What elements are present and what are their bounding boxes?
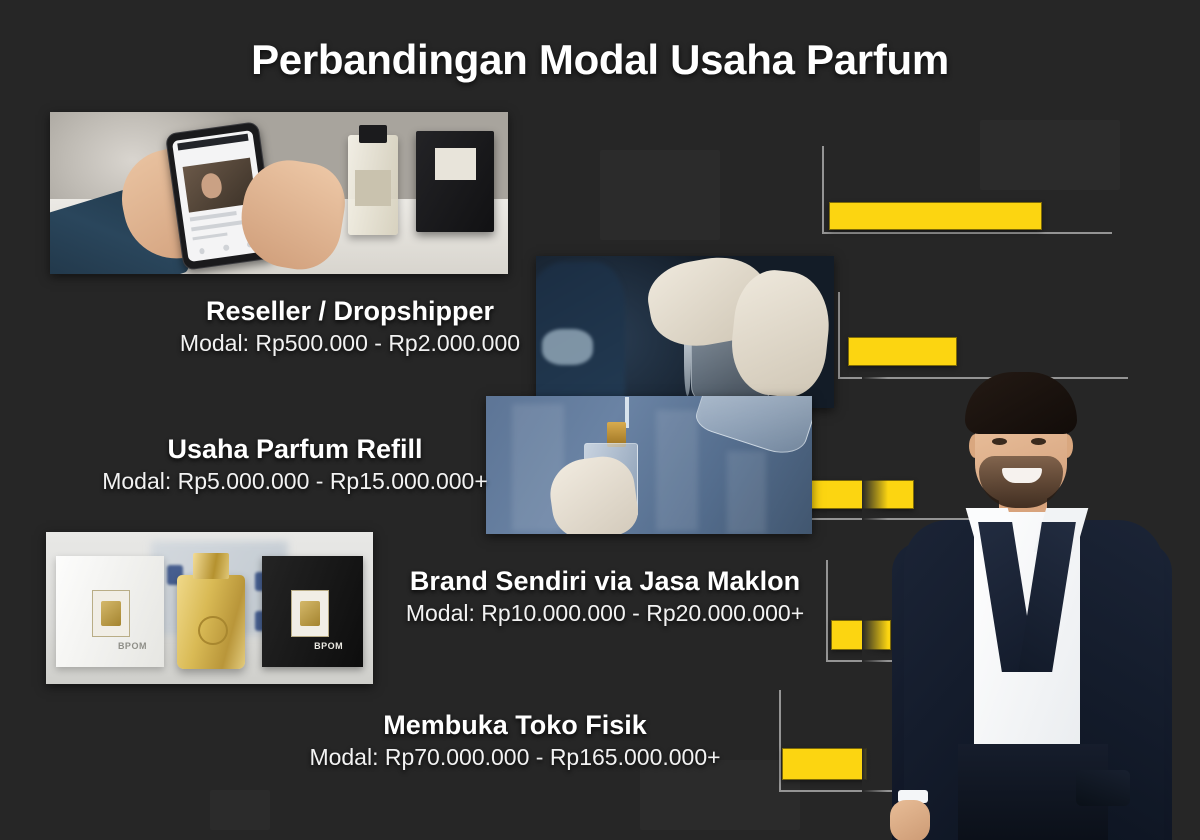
presenter-photo <box>862 372 1200 840</box>
item-title-refill: Usaha Parfum Refill <box>50 434 540 465</box>
label-block-toko: Membuka Toko Fisik Modal: Rp70.000.000 -… <box>270 710 760 772</box>
item-title-maklon: Brand Sendiri via Jasa Maklon <box>365 566 845 597</box>
chart-axis-vertical <box>822 146 824 232</box>
bpom-label-white-box: BPOM <box>118 641 147 651</box>
chart-axis-vertical <box>838 292 840 377</box>
label-block-reseller: Reseller / Dropshipper Modal: Rp500.000 … <box>100 296 600 358</box>
photo-reseller-dropshipper <box>50 112 508 274</box>
chart-axis-horizontal <box>822 232 1112 234</box>
item-subtitle-toko: Modal: Rp70.000.000 - Rp165.000.000+ <box>270 744 760 772</box>
item-title-reseller: Reseller / Dropshipper <box>100 296 600 327</box>
item-subtitle-reseller: Modal: Rp500.000 - Rp2.000.000 <box>100 330 600 358</box>
item-title-toko: Membuka Toko Fisik <box>270 710 760 741</box>
label-block-refill: Usaha Parfum Refill Modal: Rp5.000.000 -… <box>50 434 540 496</box>
item-subtitle-maklon: Modal: Rp10.000.000 - Rp20.000.000+ <box>365 600 845 628</box>
bar-toko-secondary <box>782 748 867 780</box>
bar-refill <box>848 337 957 366</box>
item-subtitle-refill: Modal: Rp5.000.000 - Rp15.000.000+ <box>50 468 540 496</box>
chart-axis-vertical <box>779 690 781 790</box>
bar-reseller <box>829 202 1042 230</box>
label-block-maklon: Brand Sendiri via Jasa Maklon Modal: Rp1… <box>365 566 845 628</box>
photo-brand-sendiri-maklon: BPOM BPOM <box>46 532 373 684</box>
infographic-canvas: Perbandingan Modal Usaha Parfum <box>0 0 1200 840</box>
bpom-label-black-box: BPOM <box>314 641 343 651</box>
